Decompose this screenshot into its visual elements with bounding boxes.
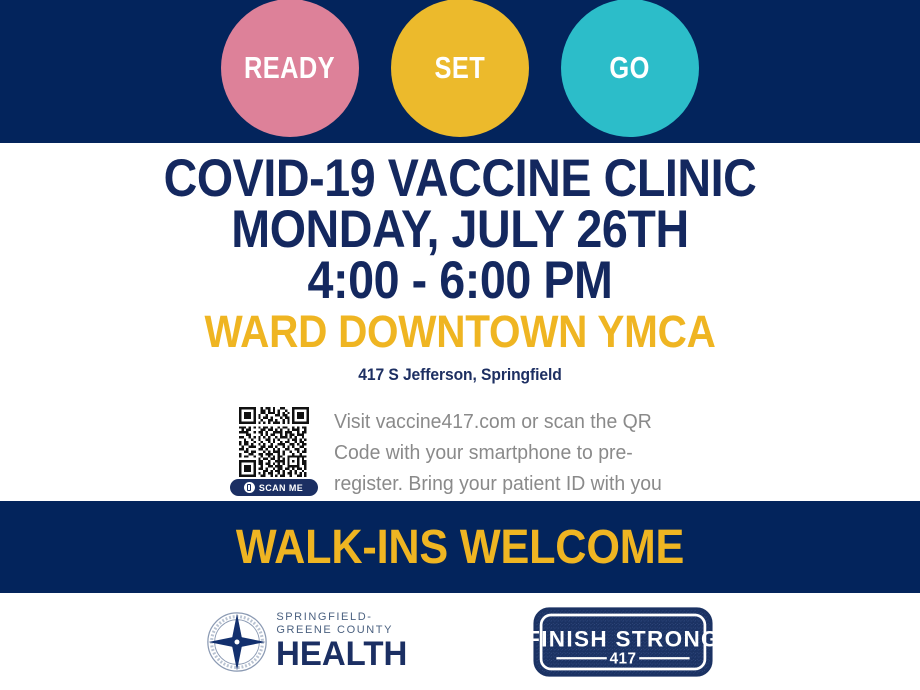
qr-code[interactable]	[236, 407, 312, 477]
walkins-banner: WALK-INS WELCOME	[0, 501, 920, 593]
footer-logos: SPRINGFIELD- GREENE COUNTY HEALTH FINISH…	[0, 593, 920, 690]
circle-badge-ready: READY	[221, 0, 359, 137]
finish-strong-line1: FINISH STRONG	[532, 626, 714, 651]
headline-time: 4:00 - 6:00 PM	[55, 256, 865, 306]
finish-strong-line2: 417	[609, 650, 636, 667]
health-logo-line3: HEALTH	[276, 637, 407, 671]
venue-address: 417 S Jefferson, Springfield	[37, 365, 883, 385]
headline-clinic-title: COVID-19 VACCINE CLINIC	[55, 154, 865, 204]
venue-name: WARD DOWNTOWN YMCA	[46, 309, 874, 354]
compass-rose-icon	[206, 611, 268, 673]
circle-badge-go: GO	[561, 0, 699, 137]
headline-block: COVID-19 VACCINE CLINIC MONDAY, JULY 26T…	[0, 143, 920, 385]
walkins-welcome-text: WALK-INS WELCOME	[236, 520, 684, 575]
flyer-canvas: READY SET GO COVID-19 VACCINE CLINIC MON…	[0, 0, 920, 690]
ready-set-go-circles: READY SET GO	[0, 0, 920, 143]
main-content-section: COVID-19 VACCINE CLINIC MONDAY, JULY 26T…	[0, 143, 920, 501]
circle-badge-set: SET	[391, 0, 529, 137]
scan-me-label: SCAN ME	[259, 483, 303, 493]
circle-label-ready: READY	[244, 50, 335, 86]
smartphone-icon	[244, 482, 255, 493]
health-logo-wordmark: SPRINGFIELD- GREENE COUNTY HEALTH	[276, 612, 411, 671]
headline-date: MONDAY, JULY 26TH	[55, 205, 865, 255]
circle-label-go: GO	[610, 50, 650, 86]
springfield-greene-health-logo: SPRINGFIELD- GREENE COUNTY HEALTH	[206, 611, 411, 673]
top-banner: READY SET GO	[0, 0, 920, 143]
qr-column: SCAN ME	[233, 407, 315, 496]
health-logo-line1: SPRINGFIELD-	[276, 612, 372, 623]
finish-strong-stamp-icon: FINISH STRONG 417	[532, 606, 714, 678]
scan-me-badge[interactable]: SCAN ME	[230, 479, 318, 496]
circle-label-set: SET	[435, 50, 486, 86]
